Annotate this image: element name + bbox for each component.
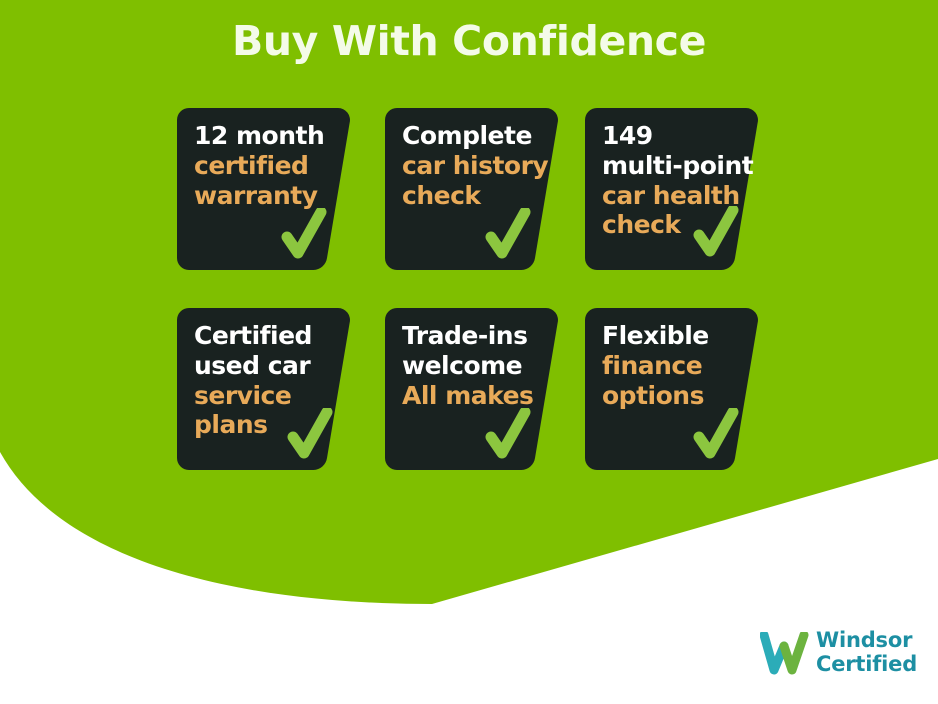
checkmark-icon: [485, 408, 531, 464]
card-text: 12 month certified warranty: [194, 121, 346, 210]
checkmark-icon: [485, 208, 531, 264]
card-line: warranty: [194, 181, 346, 211]
card-line: used car: [194, 351, 346, 381]
card-line: Flexible: [602, 321, 754, 351]
card-line: check: [402, 181, 554, 211]
benefit-card[interactable]: Complete car history check: [385, 108, 563, 270]
buy-with-confidence-banner: Buy With Confidence 12 month certified w…: [0, 0, 938, 704]
card-text: Complete car history check: [402, 121, 554, 210]
benefit-card[interactable]: Certified used car service plans: [177, 308, 355, 470]
card-line: welcome: [402, 351, 554, 381]
card-line: car history: [402, 151, 554, 181]
benefit-card-grid: 12 month certified warranty Complete car…: [0, 0, 938, 704]
benefit-card[interactable]: 149 multi-point car health check: [585, 108, 763, 270]
benefit-card[interactable]: 12 month certified warranty: [177, 108, 355, 270]
logo-line-1: Windsor: [816, 628, 917, 652]
card-line: Complete: [402, 121, 554, 151]
checkmark-icon: [287, 408, 333, 464]
card-line: multi-point: [602, 151, 754, 181]
checkmark-icon: [693, 408, 739, 464]
checkmark-icon: [693, 206, 739, 262]
card-line: options: [602, 381, 754, 411]
logo-wordmark: Windsor Certified: [816, 628, 917, 677]
benefit-card[interactable]: Trade-ins welcome All makes: [385, 308, 563, 470]
checkmark-icon: [281, 208, 327, 264]
card-line: finance: [602, 351, 754, 381]
card-line: certified: [194, 151, 346, 181]
card-line: Certified: [194, 321, 346, 351]
card-line: service: [194, 381, 346, 411]
card-line: 12 month: [194, 121, 346, 151]
logo-line-2: Certified: [816, 652, 917, 676]
card-text: Flexible finance options: [602, 321, 754, 410]
card-line: 149: [602, 121, 754, 151]
windsor-w-icon: [760, 632, 810, 676]
card-line: All makes: [402, 381, 554, 411]
benefit-card[interactable]: Flexible finance options: [585, 308, 763, 470]
card-text: Trade-ins welcome All makes: [402, 321, 554, 410]
card-line: Trade-ins: [402, 321, 554, 351]
windsor-certified-logo[interactable]: Windsor Certified: [760, 628, 932, 684]
